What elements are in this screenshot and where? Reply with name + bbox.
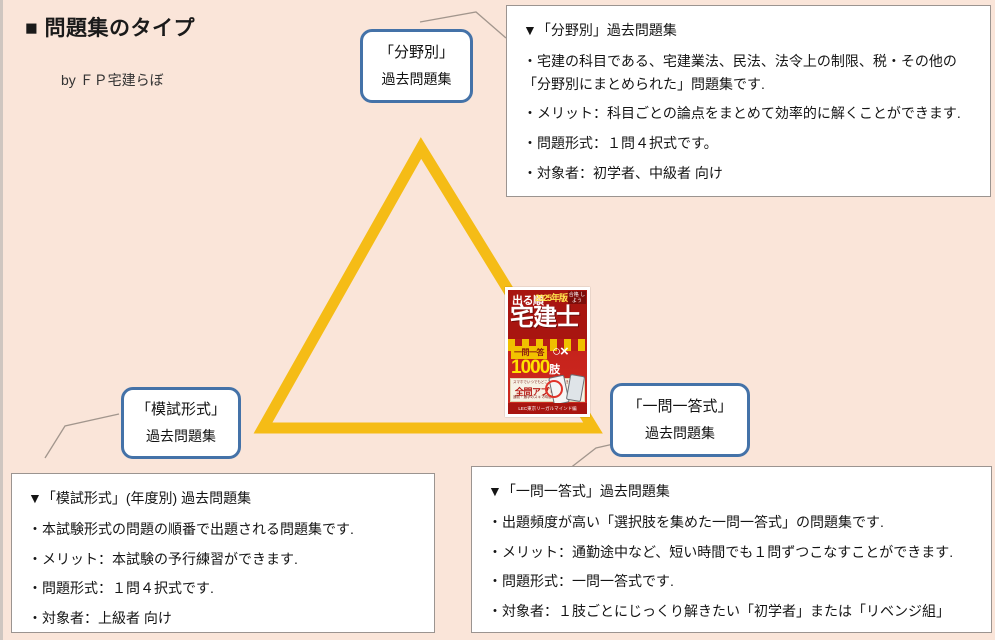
panel-bunyabetsu-item-1: ・メリット：科目ごとの論点をまとめて効率的に解くことができます.	[523, 102, 974, 125]
label-bunyabetsu-line2: 過去問題集	[382, 70, 452, 89]
label-ichimon-line1: 「一問一答式」	[627, 397, 732, 417]
panel-moshi-item-0: ・本試験形式の問題の順番で出題される問題集です.	[28, 518, 418, 541]
panel-bunyabetsu-heading: ▼「分野別」過去問題集	[523, 20, 974, 41]
book-badge: 合格 しよう	[568, 291, 586, 304]
label-box-ichimon[interactable]: 「一問一答式」 過去問題集	[610, 383, 750, 457]
label-ichimon-line2: 過去問題集	[645, 424, 715, 443]
panel-moshi-item-2: ・問題形式：１問４択式です.	[28, 577, 418, 600]
panel-ichimon-item-1: ・メリット：通勤途中など、短い時間でも１問ずつこなすことができます.	[488, 541, 975, 564]
panel-bunyabetsu: ▼「分野別」過去問題集 ・宅建の科目である、宅建業法、民法、法令上の制限、税・そ…	[506, 5, 991, 197]
panel-moshi-heading: ▼「模試形式」(年度別) 過去問題集	[28, 488, 418, 509]
book-count-unit: 肢	[549, 364, 559, 376]
book-title: 宅建士	[510, 304, 579, 332]
panel-moshi: ▼「模試形式」(年度別) 過去問題集 ・本試験形式の問題の順番で出題される問題集…	[11, 473, 435, 633]
label-moshi-line2: 過去問題集	[146, 427, 216, 446]
book-cover-image: 出る順 2025年版 合格 しよう 宅建士 一問一答 ○× 1000肢 問題集 …	[505, 287, 590, 417]
panel-moshi-item-3: ・対象者：上級者 向け	[28, 607, 418, 630]
book-year-label: 2025年版	[535, 291, 567, 304]
label-bunyabetsu-line1: 「分野別」	[379, 43, 454, 63]
slide-canvas: ■ 問題集のタイプ by ＦＰ宅建らぼ 出る順 2025年版 合格 しよう 宅建…	[0, 0, 995, 640]
panel-ichimon-item-2: ・問題形式：一問一答式です.	[488, 570, 975, 593]
panel-ichimon: ▼「一問一答式」過去問題集 ・出題頻度が高い「選択肢を集めた一問一答式」の問題集…	[471, 466, 992, 633]
label-box-moshi[interactable]: 「模試形式」 過去問題集	[121, 387, 241, 459]
label-box-bunyabetsu[interactable]: 「分野別」 過去問題集	[360, 29, 473, 103]
panel-bunyabetsu-item-2: ・問題形式：１問４択式です。	[523, 132, 974, 155]
book-count-number: 1000	[511, 357, 549, 378]
panel-bunyabetsu-item-0: ・宅建の科目である、宅建業法、民法、法令上の制限、税・その他の「分野別にまとめら…	[523, 50, 974, 95]
book-maru-circle-icon	[545, 380, 563, 398]
panel-bunyabetsu-item-3: ・対象者：初学者、中級者 向け	[523, 162, 974, 185]
panel-ichimon-heading: ▼「一問一答式」過去問題集	[488, 481, 975, 502]
panel-moshi-item-1: ・メリット：本試験の予行練習ができます.	[28, 548, 418, 571]
book-cover-art: 出る順 2025年版 合格 しよう 宅建士 一問一答 ○× 1000肢 問題集 …	[508, 290, 587, 414]
book-publisher: LEC東京リーガルマインド編	[508, 403, 587, 414]
panel-ichimon-item-3: ・対象者：１肢ごとにじっくり解きたい「初学者」または「リベンジ組」	[488, 600, 975, 623]
panel-ichimon-item-0: ・出題頻度が高い「選択肢を集めた一問一答式」の問題集です.	[488, 511, 975, 534]
label-moshi-line1: 「模試形式」	[136, 400, 226, 420]
